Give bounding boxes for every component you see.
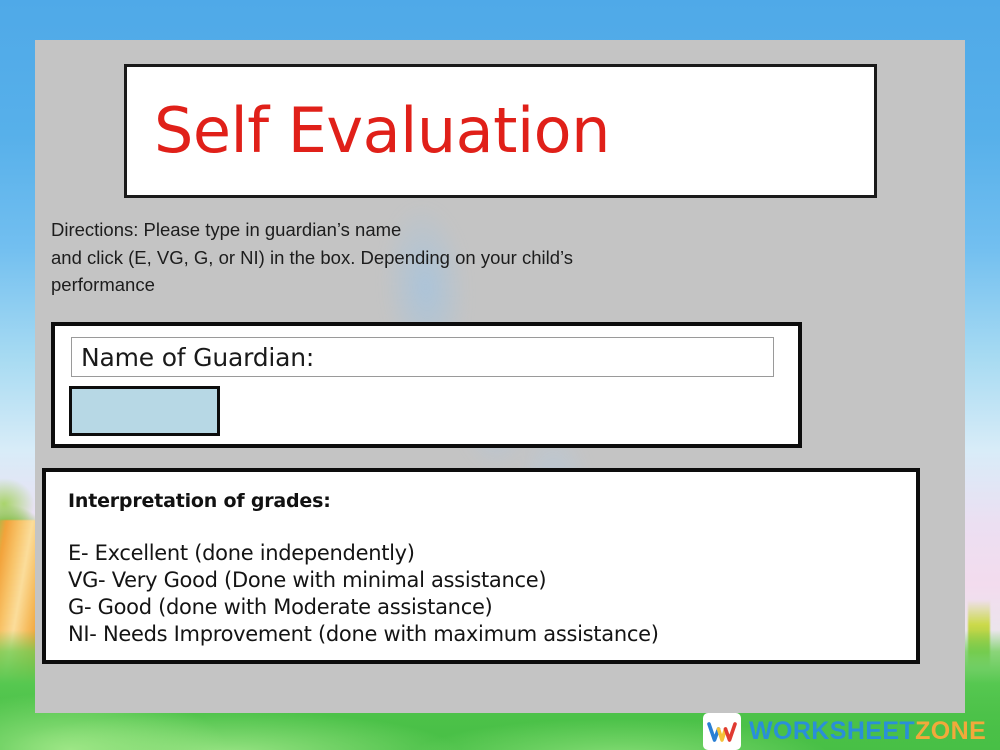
grade-item-e: E- Excellent (done independently) [68, 540, 916, 567]
worksheetzone-watermark: WORKSHEETZONE [703, 713, 986, 750]
guardian-section: Name of Guardian: [51, 322, 802, 448]
wordmark-zone: ZONE [915, 717, 986, 745]
directions-line-1: Directions: Please type in guardian’s na… [51, 216, 771, 244]
grade-item-ni: NI- Needs Improvement (done with maximum… [68, 621, 916, 648]
directions-line-2: and click (E, VG, G, or NI) in the box. … [51, 244, 771, 272]
directions-line-3: performance [51, 271, 771, 299]
directions-text: Directions: Please type in guardian’s na… [51, 216, 771, 299]
grade-item-g: G- Good (done with Moderate assistance) [68, 594, 916, 621]
grade-item-vg: VG- Very Good (Done with minimal assista… [68, 567, 916, 594]
w-logo-icon [703, 713, 741, 750]
worksheetzone-wordmark: WORKSHEETZONE [749, 719, 986, 744]
slide-canvas: Self Evaluation Directions: Please type … [0, 0, 1000, 750]
grades-legend-heading: Interpretation of grades: [68, 490, 916, 512]
guardian-name-input[interactable]: Name of Guardian: [71, 337, 774, 377]
page-title: Self Evaluation [154, 100, 610, 162]
title-box: Self Evaluation [124, 64, 877, 198]
grade-entry-box[interactable] [69, 386, 220, 436]
wordmark-worksheet: WORKSHEET [749, 717, 915, 745]
grades-legend-box: Interpretation of grades: E- Excellent (… [42, 468, 920, 664]
guardian-name-label: Name of Guardian: [81, 343, 314, 372]
